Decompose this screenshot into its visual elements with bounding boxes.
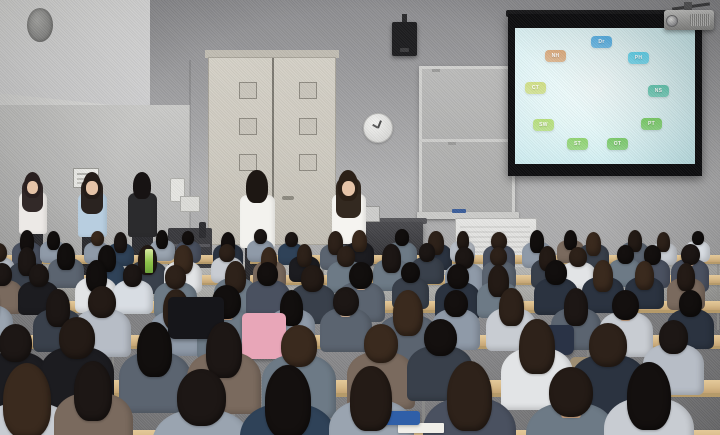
projection-screen: Y氏の生活を より良いものにするために DrNHPHCTNSSWPTSTOT: [515, 28, 695, 164]
audience-member-head: [0, 324, 32, 362]
whiteboard-slide-tab[interactable]: [448, 142, 456, 145]
audience-member-head: [659, 320, 688, 354]
audience-member-head: [257, 262, 278, 287]
presenter-face: [86, 181, 98, 195]
slide-role-box-sw: SW: [533, 119, 554, 131]
wall-speaker-icon: [392, 22, 417, 56]
audience-member-head: [333, 287, 359, 317]
audience-member-head: [349, 262, 373, 289]
audience-member-head: [395, 229, 410, 246]
slide-role-box-ns: NS: [648, 85, 669, 97]
whiteboard-slide-tab[interactable]: [432, 69, 440, 72]
audience-member-head: [677, 263, 695, 292]
audience-member-head: [219, 244, 234, 262]
audience-member-head: [499, 288, 524, 326]
audience-member-head: [617, 245, 633, 264]
audience-member-head: [444, 290, 467, 317]
audience-member-head: [285, 232, 298, 247]
audience-member-head: [254, 229, 267, 244]
presenter-hair: [246, 170, 267, 203]
audience-member-head: [182, 231, 194, 245]
audience-member-head: [123, 264, 142, 286]
ceiling-soffit: [0, 0, 150, 105]
audience-member-head: [206, 322, 242, 378]
whiteboard-marker[interactable]: [452, 209, 466, 213]
audience-member-head: [74, 361, 112, 421]
green-tea-bottle: [145, 249, 153, 273]
pink-backpack: [242, 313, 286, 359]
audience-member-head: [419, 243, 435, 261]
audience-member-head: [635, 261, 654, 290]
audience-member-head: [490, 247, 507, 266]
wall-clock-icon: [363, 113, 393, 143]
door-window-icon: [299, 118, 317, 135]
door-window-icon: [299, 154, 317, 171]
presenter-torso: [128, 193, 157, 237]
audience-member-head: [612, 290, 638, 320]
audience-member-head: [679, 290, 702, 317]
whiteboard-panel-divider: [419, 139, 515, 142]
audience-member-head: [364, 324, 397, 362]
audience-member-head: [393, 290, 423, 337]
audience-member-head: [569, 247, 586, 267]
audience-member-head: [57, 243, 74, 270]
audience-member-head: [692, 231, 704, 245]
audience-member-head: [3, 363, 51, 435]
audience-member-head: [545, 260, 566, 285]
presenter-hair: [133, 172, 151, 199]
audience-member-head: [265, 365, 312, 435]
audience-member-head: [114, 232, 127, 253]
ceiling-projector-icon: [660, 2, 716, 32]
audience-member-head: [301, 265, 324, 292]
audience-member-head: [337, 246, 355, 267]
slide-role-box-dr: Dr: [591, 36, 612, 48]
desk-leg: [717, 264, 719, 275]
audience-member-head: [156, 230, 168, 249]
audience-member-head: [137, 322, 172, 377]
audience-member-head: [401, 262, 419, 283]
audience-member-head: [447, 264, 469, 289]
projector-vent: [690, 14, 710, 26]
door-window-icon: [299, 82, 317, 99]
door-handle[interactable]: [282, 196, 294, 200]
lecture-hall-photo: Y氏の生活を より良いものにするために DrNHPHCTNSSWPTSTOT: [0, 0, 720, 435]
audience-member-head: [165, 265, 186, 289]
audience-member-head: [589, 323, 627, 366]
ceiling-speaker-icon: [27, 8, 53, 42]
audience-member-head: [352, 230, 367, 253]
audience-member-head: [297, 244, 312, 267]
audience-area: [0, 225, 720, 435]
door-window-icon: [239, 118, 257, 135]
audience-member-head: [91, 231, 104, 246]
slide-role-box-pt: PT: [641, 118, 662, 130]
slide-role-box-nh: NH: [545, 50, 566, 62]
audience-member-head: [350, 366, 392, 431]
audience-member-head: [593, 260, 613, 292]
audience-member-head: [586, 232, 601, 256]
audience-member-head: [424, 319, 456, 356]
audience-member-head: [29, 264, 49, 287]
desk-leg: [717, 285, 719, 299]
door-window-icon: [239, 82, 257, 99]
audience-member-head: [549, 367, 593, 418]
slide-role-box-st: ST: [567, 138, 588, 150]
audience-member-head: [177, 369, 226, 425]
audience-member-head: [627, 362, 671, 431]
audience-member-head: [447, 361, 493, 432]
audience-member-head: [281, 325, 317, 367]
audience-member-head: [59, 317, 95, 359]
audience-member-head: [47, 231, 60, 251]
audience-member-head: [382, 244, 400, 273]
presenter-face: [342, 181, 355, 197]
projector-lens-icon: [666, 15, 678, 27]
presenter-face: [27, 181, 38, 194]
audience-member-head: [564, 288, 588, 326]
whiteboard[interactable]: [419, 66, 515, 218]
desk-leg: [717, 312, 719, 330]
slide-role-box-ph: PH: [628, 52, 649, 64]
audience-member-head: [519, 319, 554, 374]
slide-role-box-ot: OT: [607, 138, 628, 150]
audience-member-head: [88, 286, 116, 318]
door-window-icon: [239, 154, 257, 171]
wall-outlet-plate: [180, 196, 200, 212]
slide-role-box-ct: CT: [525, 82, 546, 94]
